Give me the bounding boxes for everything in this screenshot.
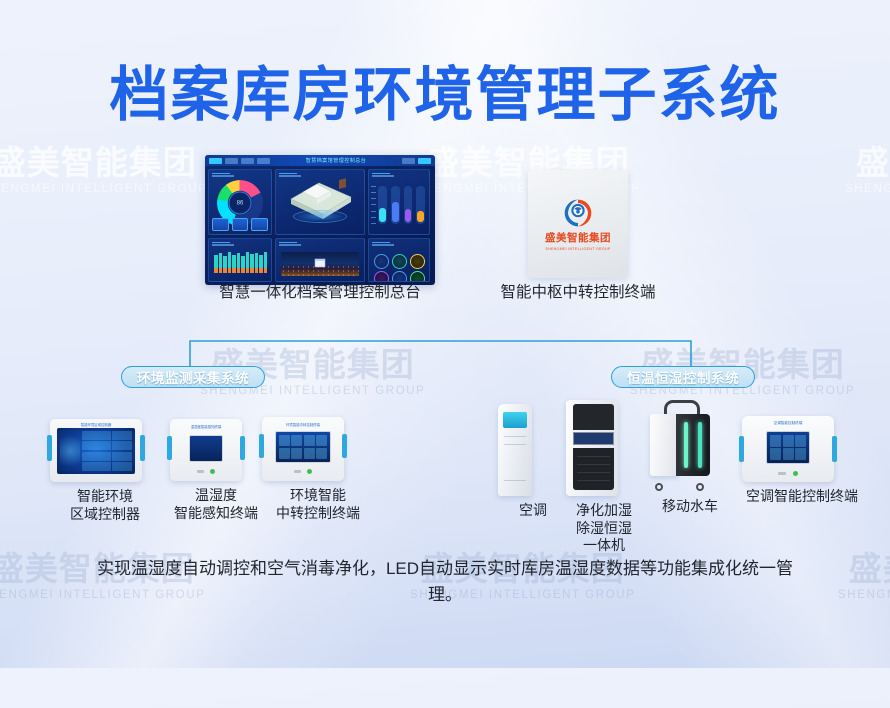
- trend-bar: [237, 253, 241, 273]
- panel-cap: [372, 175, 394, 177]
- hub-logo-cn: 盛美智能集团: [545, 230, 611, 245]
- dashboard-center-column: [275, 169, 365, 282]
- mobile-cart: [648, 400, 714, 492]
- video-thumbnail[interactable]: [281, 252, 359, 276]
- device-smart-environment-controller[interactable]: 智能环境区域控制器 智能环境 区域控制器: [50, 419, 160, 523]
- purifier-top-module: [573, 404, 614, 430]
- ac-vent: [503, 412, 527, 428]
- badge-climate-control[interactable]: 恒温恒湿控制系统: [611, 366, 755, 388]
- gauge-action-button[interactable]: [251, 218, 268, 231]
- screen-widgets: [279, 435, 327, 459]
- dashboard-title: 智慧档案馆管理控制总台: [273, 157, 399, 164]
- device-screen-caption: 环境智能中转控制终端: [262, 422, 344, 427]
- device-label: 空调: [498, 502, 568, 520]
- dashboard-left-column: 86: [208, 169, 272, 282]
- water-icon: [374, 271, 389, 282]
- hub-logo-en: SHENGMEI INTELLIGENT GROUP: [545, 247, 610, 251]
- bar-track: [378, 186, 387, 224]
- trend-bar: [214, 255, 218, 273]
- bar-track: [391, 186, 400, 224]
- side-accent: [240, 436, 245, 460]
- bars-panel: [368, 169, 430, 235]
- side-accent: [739, 436, 744, 462]
- purifier-cabinet: [566, 400, 618, 496]
- dashboard-nav-chip[interactable]: [241, 158, 254, 164]
- device-screen: [189, 435, 223, 462]
- device-label: 移动水车: [648, 498, 732, 516]
- side-accent: [259, 434, 264, 458]
- indicator-row: [197, 469, 215, 474]
- trend-bar: [264, 252, 268, 273]
- screen-widgets: [60, 431, 132, 471]
- cart-wheel: [696, 483, 704, 491]
- ac-control-panel: 空调智能控制终端: [742, 416, 834, 482]
- device-screen-caption: 空调智能控制终端: [742, 421, 834, 426]
- device-temp-humidity-sensor-terminal[interactable]: 温湿度智能感知终端 温湿度 智能感知终端: [170, 419, 262, 522]
- panel-cap: [372, 244, 394, 246]
- dashboard-nav-chip[interactable]: [257, 158, 270, 164]
- side-accent: [47, 435, 52, 461]
- cart-wheel: [655, 483, 663, 491]
- model-panel: [275, 169, 365, 235]
- grid-cell[interactable]: [373, 271, 389, 282]
- device-image: 温湿度智能感知终端: [170, 419, 262, 481]
- play-overlay-icon[interactable]: [314, 257, 326, 269]
- trend-bar: [232, 255, 236, 273]
- watermark-en: SHENGMEI INTELLIGENT GROUP: [0, 181, 207, 197]
- trend-bar: [241, 256, 245, 273]
- watermark-cn: 盛美智能集团: [838, 552, 890, 587]
- gauge-action-button[interactable]: [232, 218, 249, 231]
- trend-bar: [223, 256, 227, 273]
- grid-cell[interactable]: [409, 254, 425, 269]
- purifier-lower-module: [573, 448, 614, 490]
- badge-environment-monitoring[interactable]: 环境监测采集系统: [121, 366, 265, 388]
- cart-right-body: [676, 414, 710, 476]
- page-title: 档案库房环境管理子系统: [0, 47, 890, 132]
- hub-terminal-device[interactable]: 盛美智能集团 SHENGMEI INTELLIGENT GROUP: [528, 170, 628, 278]
- device-label: 温湿度 智能感知终端: [170, 487, 262, 522]
- device-screen: [766, 431, 810, 464]
- control-console-screenshot[interactable]: 智慧档案馆管理控制总台 86: [205, 155, 435, 285]
- trend-panel: [208, 238, 272, 282]
- gauge-action-button[interactable]: [212, 218, 229, 231]
- dashboard-live-chip: [418, 158, 431, 164]
- gauge-value: 86: [229, 192, 252, 215]
- gauge-button-row: [212, 218, 268, 231]
- trend-bar: [259, 255, 263, 273]
- dashboard-caption: 智慧一体化档案管理控制总台: [205, 283, 435, 303]
- alarm-icon: [410, 254, 425, 269]
- indicator-row: [294, 469, 312, 474]
- dashboard-header: 智慧档案馆管理控制总台: [205, 155, 435, 166]
- watermark-en: SHENGMEI INTELLIGENT GROUP: [845, 181, 890, 197]
- speaker-icon: [392, 271, 407, 282]
- device-image: 环境智能中转控制终端: [262, 417, 374, 481]
- gauge-panel: 86: [208, 169, 272, 235]
- purify-icon: [410, 271, 425, 282]
- trend-bar: [255, 253, 259, 273]
- device-screen: [57, 428, 135, 474]
- bar-track: [404, 186, 413, 224]
- purifier-display: [573, 432, 614, 445]
- icon-grid-panel: [368, 238, 430, 282]
- dashboard-right-column: [368, 169, 430, 282]
- watermark: 盛美智能集团 SHENGMEI INTELLIGENT GROUP: [845, 146, 890, 197]
- watermark-en: SHENGMEI INTELLIGENT GROUP: [838, 587, 890, 603]
- model-base-disk: [293, 210, 347, 223]
- footer-description: 实现温湿度自动调控和空气消毒净化，LED自动显示实时库房温湿度数据等功能集成化统…: [85, 556, 805, 607]
- device-image: 智能环境区域控制器: [50, 419, 160, 482]
- video-panel: [275, 238, 365, 282]
- watermark-cn: 盛美智能集团: [845, 146, 890, 181]
- cart-left-body: [650, 414, 678, 476]
- humidity-icon: [392, 254, 407, 269]
- grid-cell[interactable]: [409, 271, 425, 282]
- indicator-row: [778, 471, 798, 476]
- watermark: 盛美智能集团 SHENGMEI INTELLIGENT GROUP: [0, 146, 207, 197]
- trend-chart: [214, 257, 267, 273]
- device-image: [648, 400, 732, 492]
- device-label: 环境智能 中转控制终端: [262, 487, 374, 522]
- panel-cap: [212, 244, 234, 246]
- device-air-conditioner[interactable]: 空调: [498, 404, 568, 520]
- uv-lamp-icon: [698, 422, 702, 468]
- dashboard-nav-chip[interactable]: [209, 158, 222, 164]
- grid-cell[interactable]: [373, 254, 389, 269]
- side-accent: [832, 436, 837, 462]
- shengmei-logo-icon: [561, 198, 595, 228]
- trend-bar: [228, 252, 232, 273]
- uv-lamp-icon: [684, 422, 688, 468]
- temperature-icon: [374, 254, 389, 269]
- panel-cap: [279, 244, 301, 246]
- trend-bar: [219, 253, 223, 273]
- side-accent: [167, 436, 172, 460]
- panel-cap: [212, 175, 234, 177]
- device-image: [498, 404, 568, 496]
- grid-cell[interactable]: [391, 254, 407, 269]
- device-purifier-humidifier[interactable]: 净化加湿 除湿恒湿 一体机: [566, 400, 642, 555]
- device-screen: [275, 431, 331, 463]
- device-label: 空调智能控制终端: [742, 488, 862, 506]
- side-accent: [140, 435, 145, 461]
- dashboard-status-chip: [402, 158, 415, 164]
- bars-axis: [371, 186, 376, 224]
- bars-chart: [378, 186, 425, 224]
- device-ac-smart-control-terminal[interactable]: 空调智能控制终端 空调智能控制终端: [742, 416, 862, 506]
- trend-bar: [246, 252, 250, 273]
- device-screen-caption: 智能环境区域控制器: [50, 422, 142, 427]
- device-environment-relay-terminal[interactable]: 环境智能中转控制终端 环境智能 中转控制终端: [262, 417, 374, 522]
- device-image: 空调智能控制终端: [742, 416, 862, 482]
- screen-widgets: [770, 435, 806, 460]
- wall-box: 温湿度智能感知终端: [170, 419, 242, 481]
- hub-terminal-node: 盛美智能集团 SHENGMEI INTELLIGENT GROUP: [528, 170, 628, 278]
- device-label: 智能环境 区域控制器: [50, 488, 160, 523]
- device-image: [566, 400, 642, 496]
- grid-cell[interactable]: [391, 271, 407, 282]
- side-accent: [342, 434, 347, 458]
- trend-bar: [250, 254, 254, 273]
- dashboard-body: 86: [205, 166, 435, 285]
- watermark-cn: 盛美智能集团: [0, 146, 207, 181]
- function-icon-grid: [373, 254, 425, 277]
- device-label: 净化加湿 除湿恒湿 一体机: [566, 502, 642, 555]
- bar-track: [416, 186, 425, 224]
- wall-monitor: 智能环境区域控制器: [50, 419, 142, 482]
- watermark: 盛美智能集团 SHENGMEI INTELLIGENT GROUP: [838, 552, 890, 603]
- device-mobile-water-cart[interactable]: 移动水车: [648, 400, 732, 516]
- floor-standing-ac: [498, 404, 532, 496]
- hub-terminal-caption: 智能中枢中转控制终端: [478, 283, 678, 303]
- dashboard-nav-chip[interactable]: [225, 158, 238, 164]
- device-screen-caption: 温湿度智能感知终端: [170, 424, 242, 429]
- wall-box: 环境智能中转控制终端: [262, 417, 344, 481]
- dashboard-node: 智慧档案馆管理控制总台 86: [205, 155, 435, 285]
